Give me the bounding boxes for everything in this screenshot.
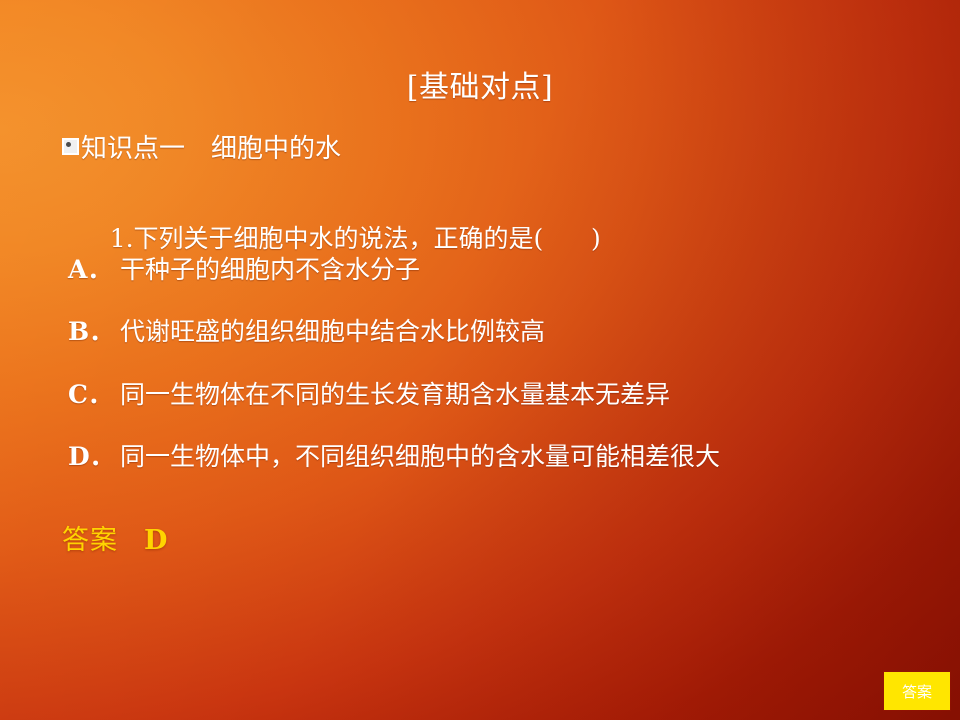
knowledge-point-topic: 细胞中的水 <box>211 128 341 165</box>
show-answer-button[interactable]: 答案 <box>884 672 950 710</box>
answer-label: 答案 <box>62 518 118 557</box>
option-b-text: 代谢旺盛的组织细胞中结合水比例较高 <box>120 312 545 348</box>
option-a-letter: A． <box>68 250 120 286</box>
knowledge-point-heading: 知识点一 细胞中的水 <box>62 128 341 165</box>
answer-value: D <box>144 525 167 556</box>
option-d-letter: D． <box>68 437 120 473</box>
option-d-text: 同一生物体中，不同组织细胞中的含水量可能相差很大 <box>120 437 720 473</box>
option-c-text: 同一生物体在不同的生长发育期含水量基本无差异 <box>120 375 670 411</box>
option-b-letter: B． <box>68 312 120 348</box>
option-b[interactable]: B． 代谢旺盛的组织细胞中结合水比例较高 <box>68 312 545 348</box>
question-text: 下列关于细胞中水的说法，正确的是( ) <box>134 224 601 253</box>
option-c[interactable]: C． 同一生物体在不同的生长发育期含水量基本无差异 <box>68 375 670 411</box>
knowledge-point-label: 知识点一 <box>81 128 185 165</box>
square-bullet-icon <box>62 138 79 155</box>
answer-line: 答案 D <box>62 518 167 557</box>
slide-content: [基础对点] 知识点一 细胞中的水 1.下列关于细胞中水的说法，正确的是( ) … <box>0 0 960 720</box>
slide-canvas: [基础对点] 知识点一 细胞中的水 1.下列关于细胞中水的说法，正确的是( ) … <box>0 0 960 720</box>
option-a[interactable]: A． 干种子的细胞内不含水分子 <box>68 250 420 286</box>
option-a-text: 干种子的细胞内不含水分子 <box>120 250 420 286</box>
page-title: [基础对点] <box>0 62 960 106</box>
option-d[interactable]: D． 同一生物体中，不同组织细胞中的含水量可能相差很大 <box>68 437 720 473</box>
question-number: 1. <box>110 224 134 253</box>
option-c-letter: C． <box>68 375 120 411</box>
